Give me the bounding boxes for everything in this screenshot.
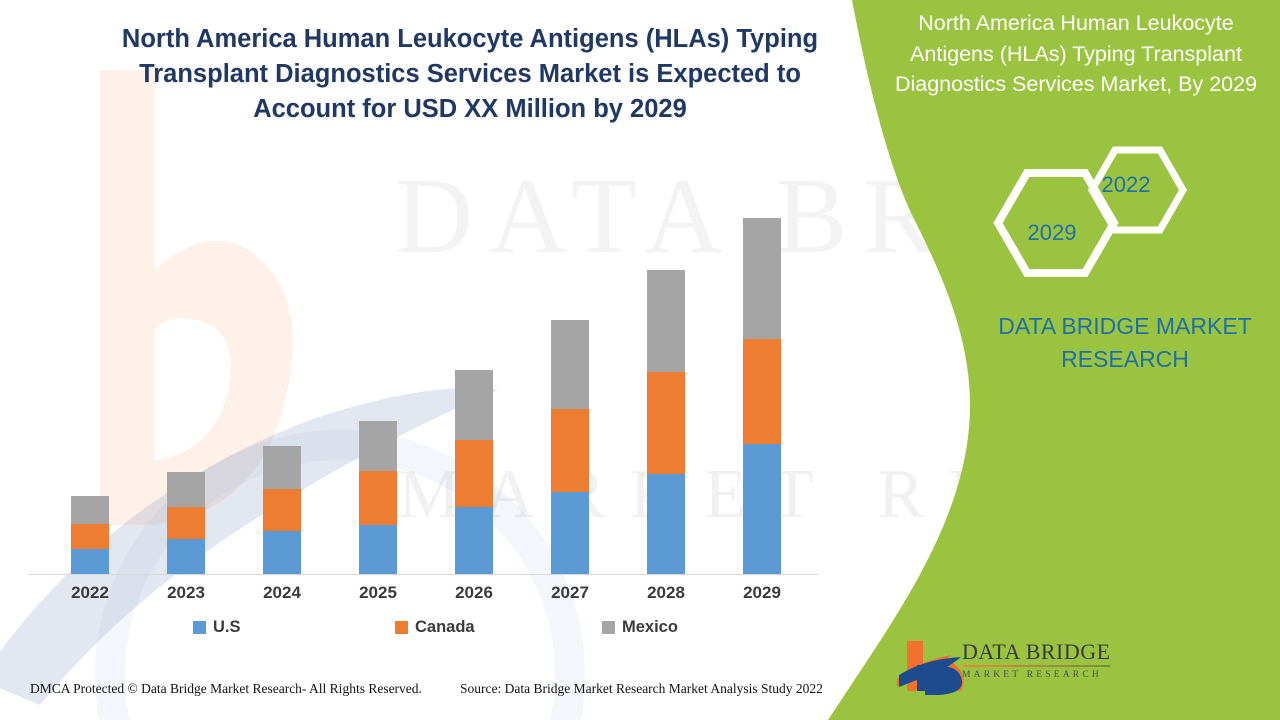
bar-segment-mexico bbox=[167, 472, 205, 507]
legend-swatch-canada bbox=[395, 621, 408, 634]
bar-segment-us bbox=[647, 474, 685, 574]
bar-segment-us bbox=[743, 444, 781, 574]
hexagon-badges bbox=[975, 145, 1205, 280]
dmca-notice: DMCA Protected © Data Bridge Market Rese… bbox=[30, 681, 422, 697]
bar-segment-us bbox=[71, 549, 109, 574]
bar-segment-canada bbox=[551, 409, 589, 492]
bar-segment-mexico bbox=[455, 370, 493, 440]
bar-segment-us bbox=[551, 492, 589, 574]
bar-group bbox=[743, 218, 781, 574]
x-axis-labels: 20222023202420252026202720282029 bbox=[0, 583, 850, 607]
bar-segment-canada bbox=[359, 471, 397, 525]
legend-swatch-mexico bbox=[602, 621, 615, 634]
hexagon-2022-label: 2022 bbox=[1088, 172, 1164, 198]
x-axis-line bbox=[28, 574, 818, 575]
legend-item-canada[interactable]: Canada bbox=[395, 618, 475, 637]
legend-label: Canada bbox=[415, 618, 475, 637]
logo-wordmark: DATA BRIDGE MARKET RESEARCH bbox=[962, 641, 1122, 680]
bar-segment-us bbox=[167, 539, 205, 574]
logo-divider bbox=[962, 665, 1110, 667]
brand-heading-line1: DATA BRIDGE MARKET bbox=[960, 310, 1280, 343]
legend-item-us[interactable]: U.S bbox=[193, 618, 241, 637]
bar-segment-canada bbox=[647, 372, 685, 474]
bar-segment-mexico bbox=[263, 446, 301, 489]
logo-subtitle: MARKET RESEARCH bbox=[962, 670, 1122, 680]
bar-segment-canada bbox=[455, 440, 493, 507]
x-axis-label-2029: 2029 bbox=[722, 583, 802, 603]
bar-segment-canada bbox=[743, 339, 781, 444]
x-axis-label-2025: 2025 bbox=[338, 583, 418, 603]
bar-segment-us bbox=[359, 525, 397, 574]
bar-group bbox=[263, 446, 301, 574]
legend-label: Mexico bbox=[622, 618, 678, 637]
bar-group bbox=[647, 270, 685, 574]
x-axis-label-2024: 2024 bbox=[242, 583, 322, 603]
hexagon-2029-label: 2029 bbox=[1010, 220, 1094, 246]
bar-segment-mexico bbox=[359, 421, 397, 471]
x-axis-label-2028: 2028 bbox=[626, 583, 706, 603]
legend-label: U.S bbox=[213, 618, 241, 637]
legend-swatch-us bbox=[193, 621, 206, 634]
chart-legend: U.SCanadaMexico bbox=[0, 618, 850, 642]
bar-group bbox=[551, 320, 589, 574]
bar-segment-mexico bbox=[551, 320, 589, 409]
brand-heading-line2: RESEARCH bbox=[960, 343, 1280, 376]
legend-item-mexico[interactable]: Mexico bbox=[602, 618, 678, 637]
bar-segment-mexico bbox=[743, 218, 781, 339]
bar-segment-canada bbox=[71, 524, 109, 549]
right-panel-title: North America Human Leukocyte Antigens (… bbox=[880, 8, 1272, 100]
bar-group bbox=[71, 496, 109, 574]
bar-segment-canada bbox=[167, 507, 205, 539]
chart-plot-area bbox=[0, 150, 850, 575]
bar-segment-us bbox=[263, 531, 301, 574]
footer: DMCA Protected © Data Bridge Market Rese… bbox=[0, 678, 850, 708]
bar-group bbox=[167, 472, 205, 574]
brand-heading: DATA BRIDGE MARKET RESEARCH bbox=[960, 310, 1280, 377]
x-axis-label-2027: 2027 bbox=[530, 583, 610, 603]
x-axis-label-2022: 2022 bbox=[50, 583, 130, 603]
logo-name: DATA BRIDGE bbox=[962, 641, 1122, 663]
bar-group bbox=[455, 370, 493, 574]
x-axis-label-2026: 2026 bbox=[434, 583, 514, 603]
x-axis-label-2023: 2023 bbox=[146, 583, 226, 603]
bar-segment-us bbox=[455, 507, 493, 574]
source-note: Source: Data Bridge Market Research Mark… bbox=[460, 681, 823, 697]
infographic-page: DATA BRIDGE MARKET RESEARCH North Americ… bbox=[0, 0, 1280, 720]
bar-group bbox=[359, 421, 397, 574]
bar-segment-canada bbox=[263, 489, 301, 531]
chart-title: North America Human Leukocyte Antigens (… bbox=[120, 22, 820, 127]
bar-segment-mexico bbox=[647, 270, 685, 372]
bar-segment-mexico bbox=[71, 496, 109, 524]
